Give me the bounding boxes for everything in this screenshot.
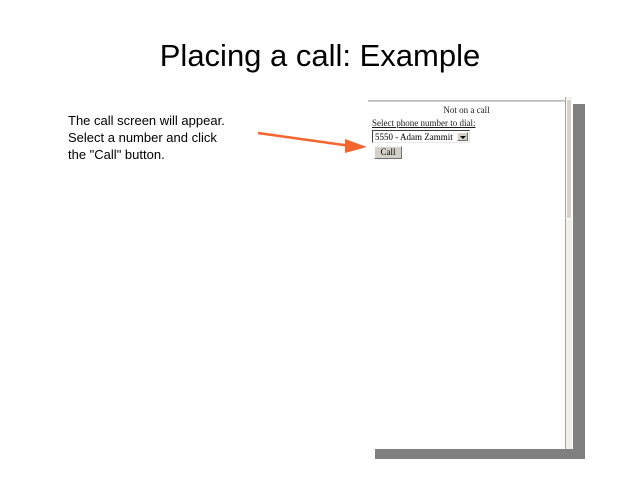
screenshot-shadow-right [573,104,585,449]
call-status-text: Not on a call [368,105,565,116]
vertical-scrollbar[interactable] [565,97,572,449]
screenshot-shadow-bottom [375,449,585,459]
call-screen-content: Not on a call Select phone number to dia… [368,97,565,449]
chevron-down-icon[interactable] [457,132,468,141]
call-button[interactable]: Call [374,146,402,159]
phone-number-select[interactable]: 5550 - Adam Zammit [372,130,470,143]
phone-number-select-value: 5550 - Adam Zammit [375,132,453,143]
select-phone-number-label[interactable]: Select phone number to dial: [372,118,475,129]
scrollbar-thumb[interactable] [566,99,572,219]
call-screen-screenshot: Not on a call Select phone number to dia… [368,97,572,449]
horizontal-rule [368,100,565,102]
annotation-arrow-icon [255,124,375,160]
slide-body-text: The call screen will appear. Select a nu… [68,112,268,163]
page-title: Placing a call: Example [0,38,640,74]
body-text-line-2: Select a number and click [68,129,268,146]
slide-canvas: Placing a call: Example The call screen … [0,0,640,480]
body-text-line-1: The call screen will appear. [68,112,268,129]
body-text-line-3: the "Call" button. [68,146,268,163]
